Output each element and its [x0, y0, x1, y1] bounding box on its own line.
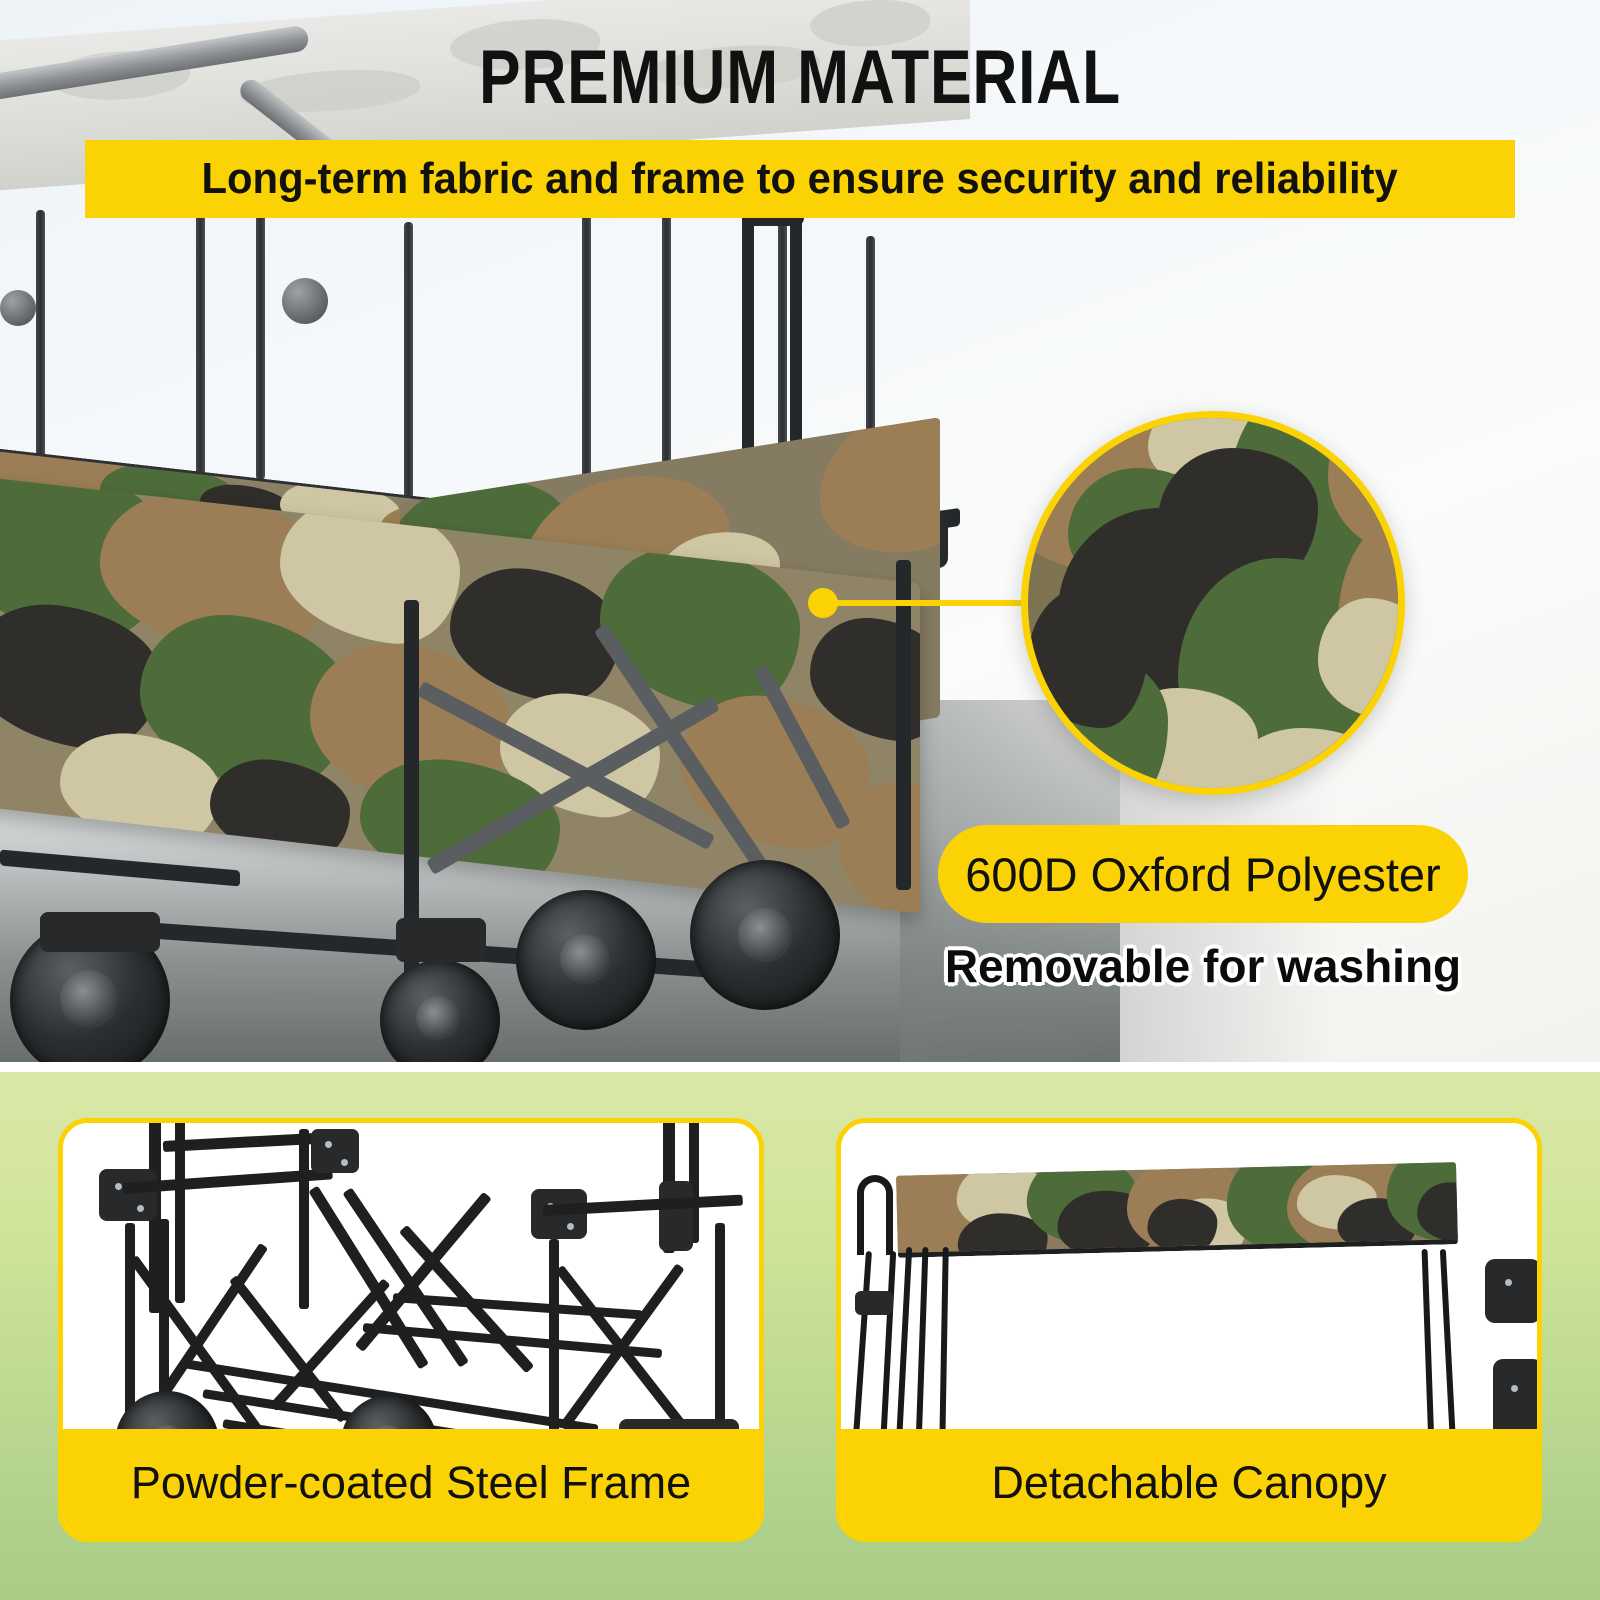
- feature-card-steel-frame[interactable]: Powder-coated Steel Frame: [58, 1118, 764, 1542]
- folded-frame-photo: [63, 1123, 759, 1439]
- canopy-hook-stem: [880, 1251, 896, 1439]
- material-pill-text: 600D Oxford Polyester: [965, 847, 1440, 902]
- card-caption-text: Powder-coated Steel Frame: [131, 1457, 691, 1509]
- canopy-frame-bracket: [1485, 1259, 1537, 1323]
- section-divider: [0, 1062, 1600, 1072]
- card-caption-text: Detachable Canopy: [991, 1457, 1386, 1509]
- canopy-pole: [256, 190, 265, 480]
- bottom-rail: [0, 850, 240, 887]
- washing-note: Removable for washing: [938, 935, 1468, 997]
- canopy-support-pole: [1422, 1249, 1435, 1439]
- wheel-bracket: [40, 912, 160, 952]
- caster-bracket: [396, 918, 486, 962]
- canopy-support-pole: [916, 1247, 929, 1439]
- detachable-canopy-photo: [841, 1123, 1537, 1439]
- subtitle-banner: Long-term fabric and frame to ensure sec…: [85, 140, 1515, 218]
- camo-fabric-closeup: [1028, 418, 1398, 788]
- canopy-knob: [282, 278, 328, 324]
- page-title: PREMIUM MATERIAL: [144, 40, 1456, 116]
- subtitle-banner-text: Long-term fabric and frame to ensure sec…: [202, 154, 1398, 204]
- premium-material-section: PREMIUM MATERIAL Long-term fabric and fr…: [0, 0, 1600, 1062]
- canopy-camo-fabric: [896, 1162, 1458, 1258]
- card-caption-steel-frame: Powder-coated Steel Frame: [63, 1429, 759, 1537]
- canopy-knob-2: [0, 290, 36, 326]
- canopy-hook-stem: [852, 1251, 872, 1439]
- canopy-support-pole: [896, 1247, 912, 1439]
- canopy-support-pole: [939, 1247, 948, 1439]
- vertical-leg: [896, 560, 911, 890]
- material-pill-badge: 600D Oxford Polyester: [938, 825, 1468, 923]
- canopy-frame-bracket: [1493, 1359, 1537, 1439]
- canopy-clamp: [855, 1291, 893, 1315]
- canopy-support-pole: [1440, 1249, 1456, 1439]
- card-caption-canopy: Detachable Canopy: [841, 1429, 1537, 1537]
- canopy-hook: [857, 1175, 893, 1255]
- feature-card-canopy[interactable]: Detachable Canopy: [836, 1118, 1542, 1542]
- callout-connector-line: [822, 600, 1027, 606]
- canopy-pole: [196, 180, 205, 480]
- callout-origin-dot: [808, 588, 838, 618]
- fabric-closeup-magnifier: [1021, 411, 1405, 795]
